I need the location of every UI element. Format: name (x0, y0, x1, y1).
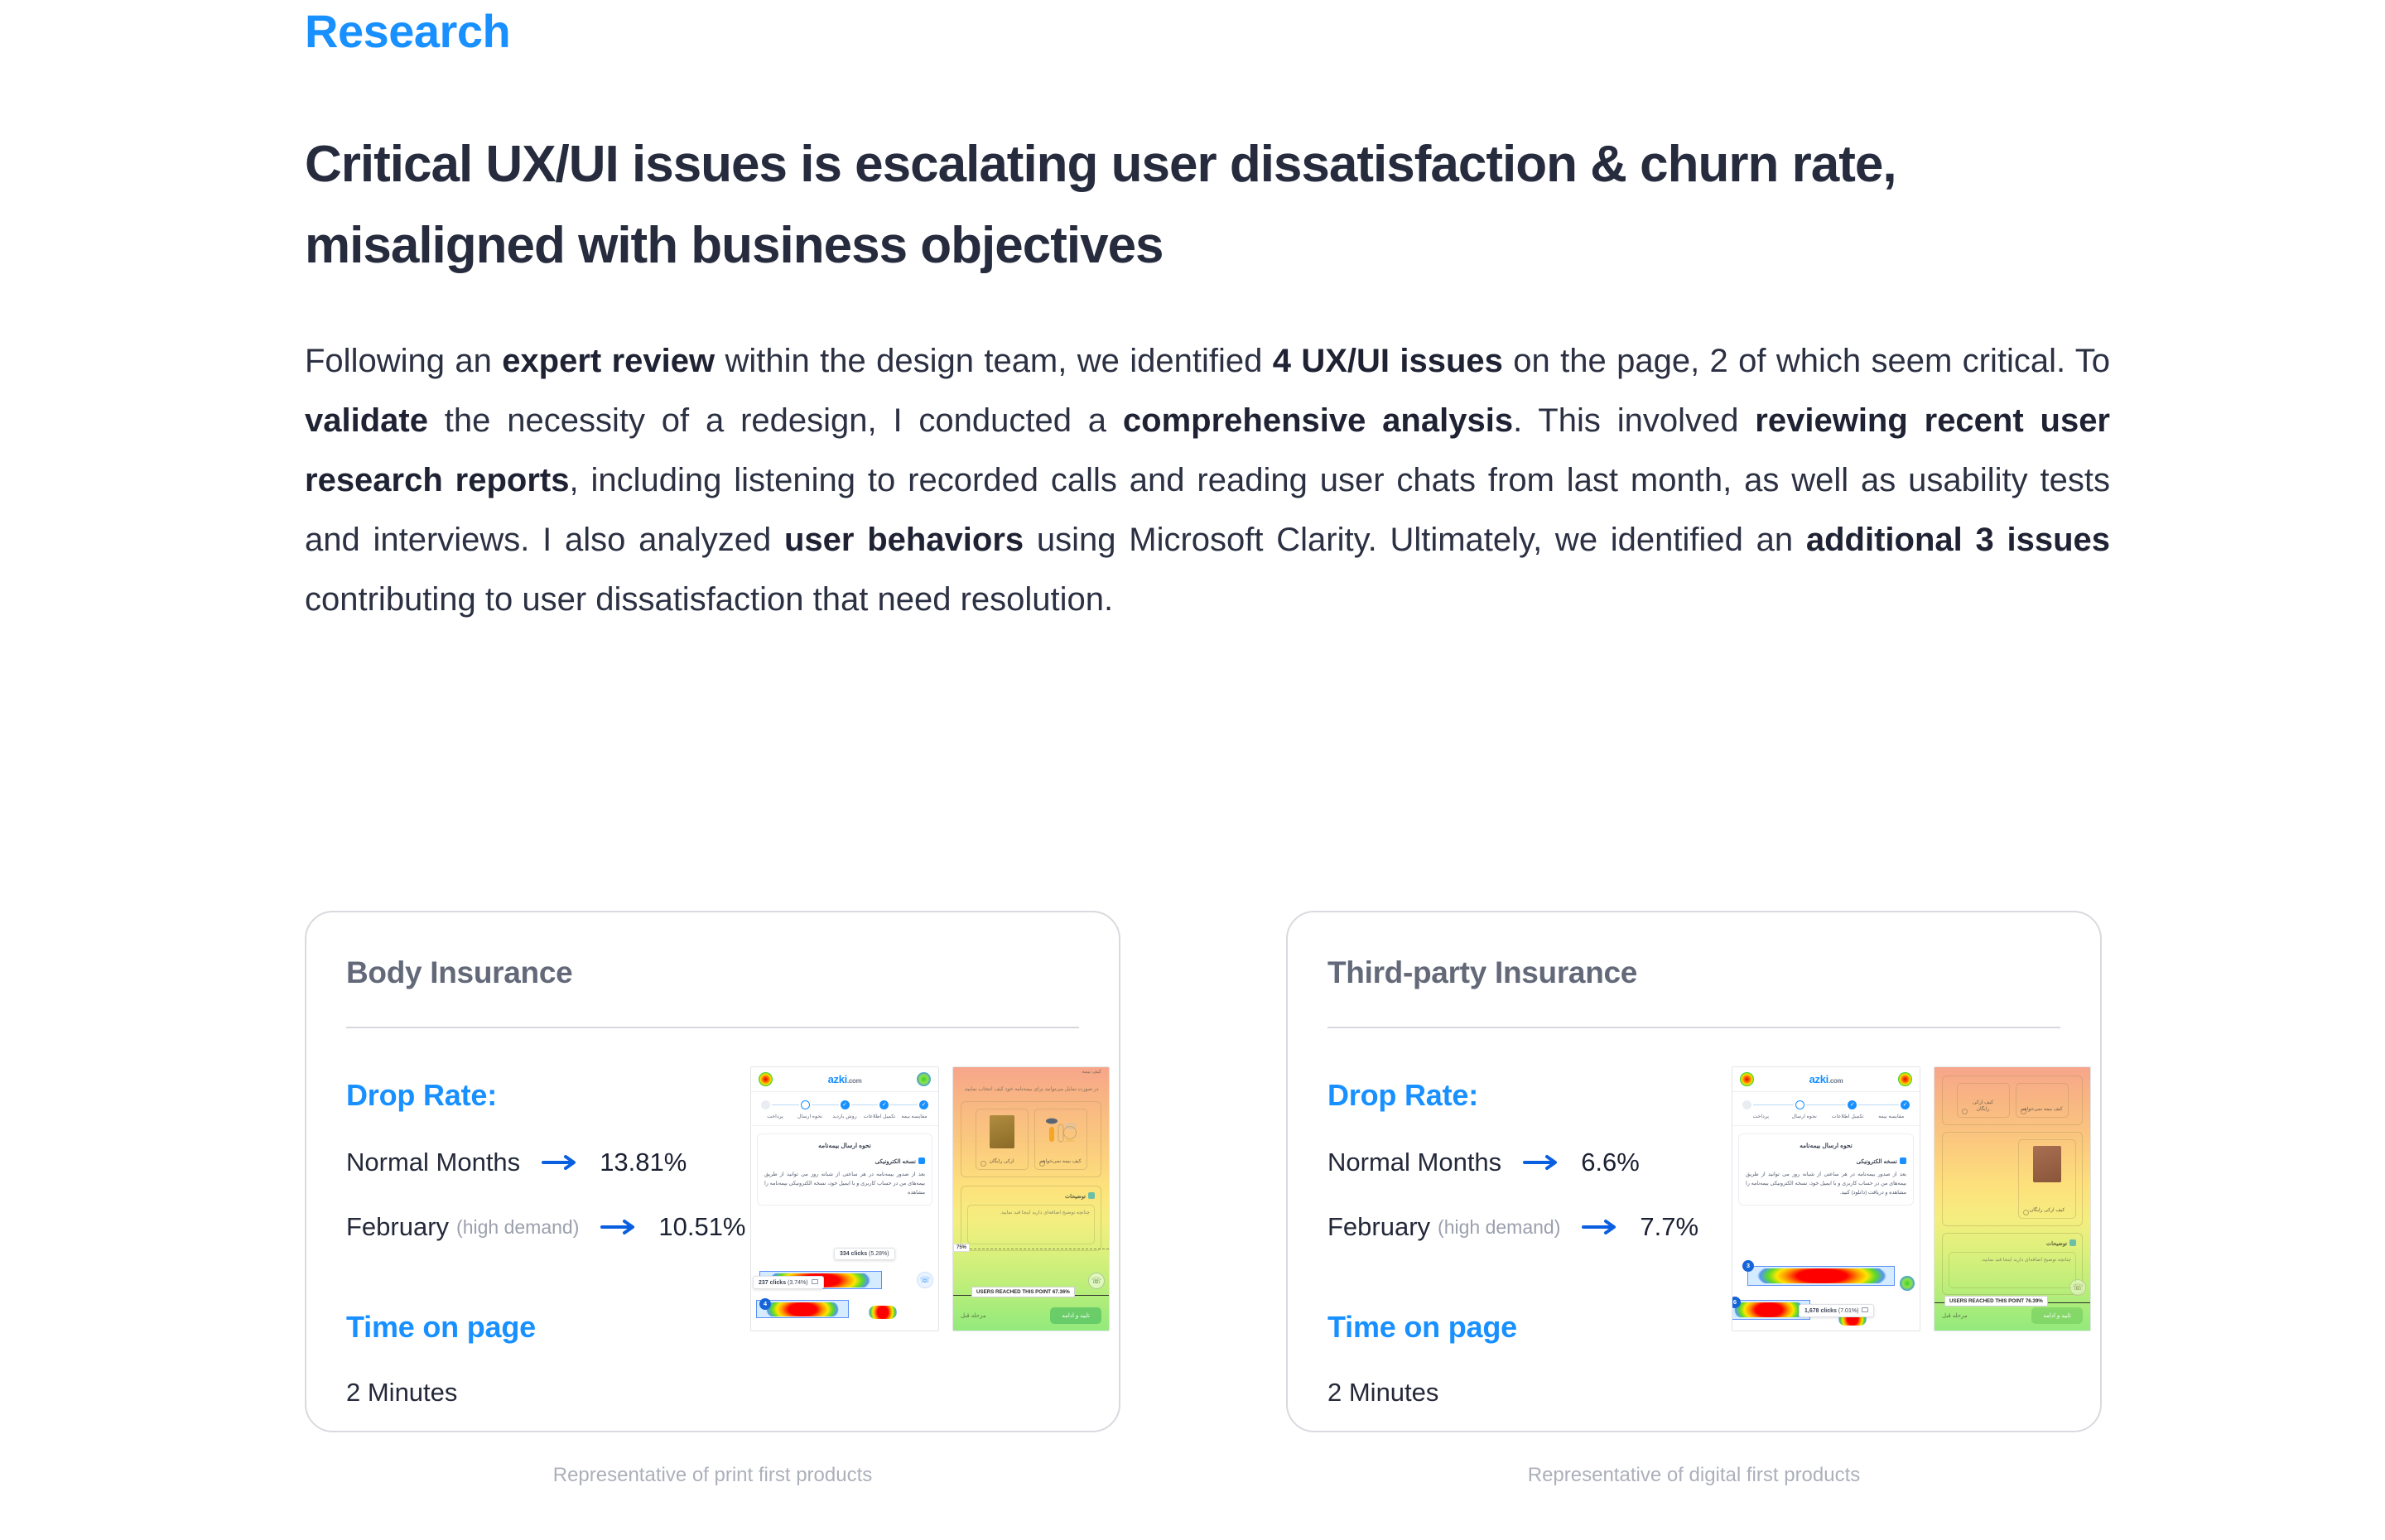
emphasis-text: validate (305, 402, 428, 439)
description-panel: توضیحات چنانچه توضیح اضافه‌ای دارید اینج… (961, 1186, 1101, 1251)
metric-label: Normal Months (346, 1148, 520, 1177)
step-indicator: ✓ ✓ ✓ مقایسه بیمه تکمیل اطلاعات روش با (751, 1092, 938, 1126)
previous-step-button[interactable]: مرحله قبل (961, 1312, 986, 1319)
drop-rate-label: Drop Rate: (1327, 1078, 1717, 1113)
wallet-options: کیف بیمه نمی‌خواهم ازکی رایگان (961, 1101, 1101, 1177)
scroll-reached-label: 67.36% USERS REACHED THIS POINT (971, 1287, 1075, 1297)
wallet-option-tile[interactable]: کیف ازکیرایگان (1957, 1083, 2010, 1118)
card-third-party-insurance: Third-party Insurance Drop Rate: Normal … (1286, 911, 2102, 1432)
metrics-block: Drop Rate: Normal Months 6.6% February (… (1327, 1078, 1717, 1408)
support-chat-hotspot (1900, 1276, 1915, 1291)
step-label: نحوه ارسال (1783, 1114, 1827, 1120)
tile-caption: کیف بیمه نمی‌خواهم (1039, 1158, 1081, 1165)
step-dot-4 (801, 1100, 810, 1109)
description-title: توضیحات (1949, 1239, 2076, 1247)
scroll-reached-label: 76.39% USERS REACHED THIS POINT (1944, 1296, 2048, 1307)
step-dot-2: ✓ (879, 1100, 889, 1109)
option-description: بعد از صدور بیمه‌نامه در هر ساعتی از شبا… (1746, 1170, 1906, 1197)
card-wrap-third-party-insurance: Third-party Insurance Drop Rate: Normal … (1286, 911, 2102, 1487)
metric-note: (high demand) (1438, 1216, 1560, 1239)
card-divider (346, 1027, 1079, 1028)
metric-label: February (346, 1212, 449, 1242)
scroll-heatmap-screenshot[interactable]: کیف بیمه نمی‌خواهم کیف ازکیرایگان (1934, 1066, 2091, 1331)
tile-caption: ازکی رایگان (990, 1158, 1014, 1165)
delivery-method-panel: نحوه ارسال بیمه‌نامه نسخه الکترونیکی بعد… (757, 1133, 932, 1206)
time-on-page-label: Time on page (346, 1310, 735, 1345)
bag-image (2033, 1146, 2061, 1182)
time-on-page-value: 2 Minutes (1327, 1378, 1717, 1408)
support-chat-button[interactable]: ☏ (917, 1272, 933, 1288)
previous-step-button[interactable]: مرحله قبل (1942, 1312, 1968, 1319)
scroll-percent-tag: 75% (953, 1244, 970, 1252)
step-connector (851, 1104, 879, 1106)
step-label: تکمیل اطلاعات (1826, 1114, 1870, 1120)
section-eyebrow: Research (305, 0, 510, 63)
scroll-depth-dashed-line (953, 1249, 1109, 1249)
drop-rate-label: Drop Rate: (346, 1078, 735, 1113)
wallet-option-tile[interactable]: کیف بیمه نمی‌خواهم (2016, 1083, 2069, 1118)
record-icon (812, 1279, 818, 1284)
menu-hotspot-icon (1898, 1072, 1912, 1086)
profile-hotspot-icon (1740, 1072, 1754, 1086)
metric-label: February (1327, 1212, 1430, 1242)
check-circle-icon (980, 1161, 986, 1167)
delivery-method-panel: نحوه ارسال بیمه‌نامه نسخه الکترونیکی بعد… (1738, 1133, 1914, 1206)
panel-title: نحوه ارسال بیمه‌نامه (764, 1142, 925, 1153)
card-divider (1327, 1027, 2060, 1028)
step-connector (1753, 1104, 1794, 1106)
metric-note: (high demand) (456, 1216, 579, 1239)
scroll-heatmap-screenshot[interactable]: کیف بیمه در صورت تمایل می‌توانید برای بی… (952, 1066, 1110, 1331)
step-label: نحوه ارسال (793, 1114, 827, 1120)
scroll-intro-text: در صورت تمایل می‌توانید برای بیمه‌نامه خ… (961, 1085, 1101, 1094)
click-hotspot (1757, 1268, 1886, 1283)
step-connector (1806, 1104, 1847, 1106)
step-indicator: ✓ ✓ مقایسه بیمه تکمیل اطلاعات نحوه ارسال… (1732, 1092, 1920, 1126)
click-heatmap-screenshot[interactable]: azki.com ✓ (1732, 1066, 1920, 1331)
description-textarea[interactable]: چنانچه توضیح اضافه‌ای دارید اینجا قید نم… (967, 1205, 1095, 1244)
emphasis-text: 4 UX/UI issues (1273, 343, 1503, 379)
menu-hotspot-icon (917, 1072, 931, 1086)
option-description: بعد از صدور بیمه‌نامه در هر ساعتی از شبا… (764, 1170, 925, 1197)
click-hotspot (766, 1302, 839, 1316)
wallet-option-tile[interactable]: کیف ازکی رایگان (2018, 1139, 2076, 1219)
body-text: using Microsoft Clarity. Ultimately, we … (1024, 522, 1806, 558)
arrow-right-icon (600, 1218, 637, 1236)
note-icon (1088, 1192, 1095, 1199)
support-chat-button[interactable]: ☏ (1088, 1273, 1105, 1289)
click-hotspot (869, 1306, 897, 1319)
step-dot-4 (1742, 1100, 1751, 1109)
step-connector (890, 1104, 918, 1106)
azki-logo: azki.com (828, 1073, 862, 1085)
card-wrap-body-insurance: Body Insurance Drop Rate: Normal Months … (305, 911, 1120, 1487)
step-connector (812, 1104, 839, 1106)
body-paragraph: Following an expert review within the de… (305, 331, 2110, 629)
metric-label: Normal Months (1327, 1148, 1501, 1177)
option-title: نسخه الکترونیکی (764, 1157, 925, 1165)
step-label: مقایسه بیمه (897, 1114, 932, 1120)
card-caption: Representative of digital first products (1286, 1464, 2102, 1487)
click-hotspot (1734, 1302, 1804, 1317)
body-text: on the page, 2 of which seem critical. T… (1503, 343, 2110, 379)
wallet-options: کیف بیمه نمی‌خواهم کیف ازکیرایگان (1942, 1076, 2083, 1125)
description-title: توضیحات (967, 1192, 1095, 1200)
click-tooltip: 1,678 clicks (7.01%) (1799, 1304, 1874, 1317)
profile-hotspot-icon (759, 1072, 773, 1086)
description-textarea[interactable]: چنانچه توضیح اضافه‌ای دارید اینجا قید نم… (1949, 1252, 2076, 1288)
site-topbar: azki.com (1732, 1067, 1920, 1092)
metric-row: Normal Months 13.81% (346, 1148, 735, 1177)
emphasis-text: comprehensive analysis (1123, 402, 1513, 439)
card-title: Body Insurance (346, 949, 1079, 990)
body-text: Following an (305, 343, 502, 379)
step-connector (772, 1104, 799, 1106)
site-topbar: azki.com (751, 1067, 938, 1092)
research-slide: Research Critical UX/UI issues is escala… (0, 0, 2385, 1540)
metric-value: 10.51% (658, 1212, 745, 1242)
arrow-right-icon (1582, 1218, 1618, 1236)
check-circle-icon (1962, 1109, 1968, 1114)
click-heatmap-screenshot[interactable]: azki.com ✓ (750, 1066, 939, 1331)
step-labels: مقایسه بیمه تکمیل اطلاعات روش بازدید نحو… (758, 1114, 932, 1120)
step-labels: مقایسه بیمه تکمیل اطلاعات نحوه ارسال پرد… (1739, 1114, 1913, 1120)
step-label: پرداخت (1739, 1114, 1783, 1120)
card-body-insurance: Body Insurance Drop Rate: Normal Months … (305, 911, 1120, 1432)
arrow-right-icon (542, 1153, 578, 1172)
body-text: contributing to user dissatisfaction tha… (305, 581, 1113, 618)
option-title: نسخه الکترونیکی (1746, 1157, 1906, 1165)
step-dot-3 (1795, 1100, 1804, 1109)
rank-badge: 4 (759, 1298, 771, 1310)
wallet-option-tile[interactable]: ازکی رایگان (976, 1109, 1029, 1170)
metric-value: 7.7% (1640, 1212, 1698, 1242)
arrow-right-icon (1523, 1153, 1559, 1172)
illustration-icon (1043, 1115, 1079, 1148)
note-icon (2069, 1239, 2076, 1246)
step-dot-5 (761, 1100, 770, 1109)
panel-heading: کیف بیمه (1082, 1069, 1101, 1075)
confirm-continue-button[interactable]: تایید و ادامه (2031, 1307, 2083, 1324)
step-dot-1: ✓ (1901, 1100, 1910, 1109)
page-title: Critical UX/UI issues is escalating user… (305, 124, 2110, 286)
card-caption: Representative of print first products (305, 1464, 1120, 1487)
step-label: تکمیل اطلاعات (862, 1114, 897, 1120)
description-panel: توضیحات چنانچه توضیح اضافه‌ای دارید اینج… (1942, 1233, 2083, 1295)
metric-row: Normal Months 6.6% (1327, 1148, 1717, 1177)
check-circle-icon (1039, 1161, 1045, 1167)
tile-caption: کیف ازکی رایگان (2030, 1207, 2065, 1214)
record-icon (1862, 1307, 1868, 1312)
metric-value: 6.6% (1581, 1148, 1640, 1177)
wizard-footer: تایید و ادامه مرحله قبل (1942, 1307, 2083, 1324)
click-tooltip: 334 clicks (5.28%) (834, 1248, 895, 1260)
tile-caption: کیف بیمه نمی‌خواهم (2021, 1106, 2062, 1113)
heatmap-thumbnails: azki.com ✓ (750, 1066, 1110, 1331)
step-dot-1: ✓ (919, 1100, 928, 1109)
document-icon (918, 1157, 925, 1164)
insurance-cards: Body Insurance Drop Rate: Normal Months … (305, 911, 2102, 1487)
check-circle-icon (2021, 1109, 2026, 1114)
time-on-page-label: Time on page (1327, 1310, 1717, 1345)
azki-logo: azki.com (1809, 1073, 1843, 1085)
click-tooltip: 237 clicks (3.74%) (753, 1276, 824, 1289)
step-dot-2: ✓ (1848, 1100, 1857, 1109)
emphasis-text: additional 3 issues (1806, 522, 2110, 558)
tile-caption: کیف ازکیرایگان (1973, 1100, 1993, 1113)
confirm-continue-button[interactable]: تایید و ادامه (1050, 1307, 1101, 1324)
body-text: . This involved (1513, 402, 1755, 439)
wallet-option-tile[interactable]: کیف بیمه نمی‌خواهم (1034, 1109, 1087, 1170)
time-on-page-value: 2 Minutes (346, 1378, 735, 1408)
emphasis-text: expert review (502, 343, 715, 379)
body-text: the necessity of a redesign, I conducted… (428, 402, 1123, 439)
metrics-block: Drop Rate: Normal Months 13.81% February… (346, 1078, 735, 1408)
step-label: پرداخت (758, 1114, 793, 1120)
emphasis-text: user behaviors (784, 522, 1024, 558)
step-label: مقایسه بیمه (1870, 1114, 1914, 1120)
step-connector (1858, 1104, 1899, 1106)
body-text: within the design team, we identified (715, 343, 1273, 379)
document-icon (1900, 1157, 1906, 1164)
metric-value: 13.81% (600, 1148, 687, 1177)
step-dot-3: ✓ (841, 1100, 850, 1109)
bag-image (990, 1115, 1014, 1148)
panel-title: نحوه ارسال بیمه‌نامه (1746, 1142, 1906, 1153)
heatmap-thumbnails: azki.com ✓ (1732, 1066, 2091, 1331)
metric-row: February (high demand) 10.51% (346, 1212, 735, 1242)
metric-row: February (high demand) 7.7% (1327, 1212, 1717, 1242)
rank-badge: 3 (1742, 1260, 1754, 1272)
check-circle-icon (2023, 1210, 2029, 1215)
wallet-options-secondary: کیف ازکی رایگان (1942, 1132, 2083, 1226)
wizard-footer: تایید و ادامه مرحله قبل (961, 1307, 1101, 1324)
step-label: روش بازدید (827, 1114, 862, 1120)
card-title: Third-party Insurance (1327, 949, 2060, 990)
support-chat-button[interactable]: ☏ (2069, 1279, 2086, 1296)
